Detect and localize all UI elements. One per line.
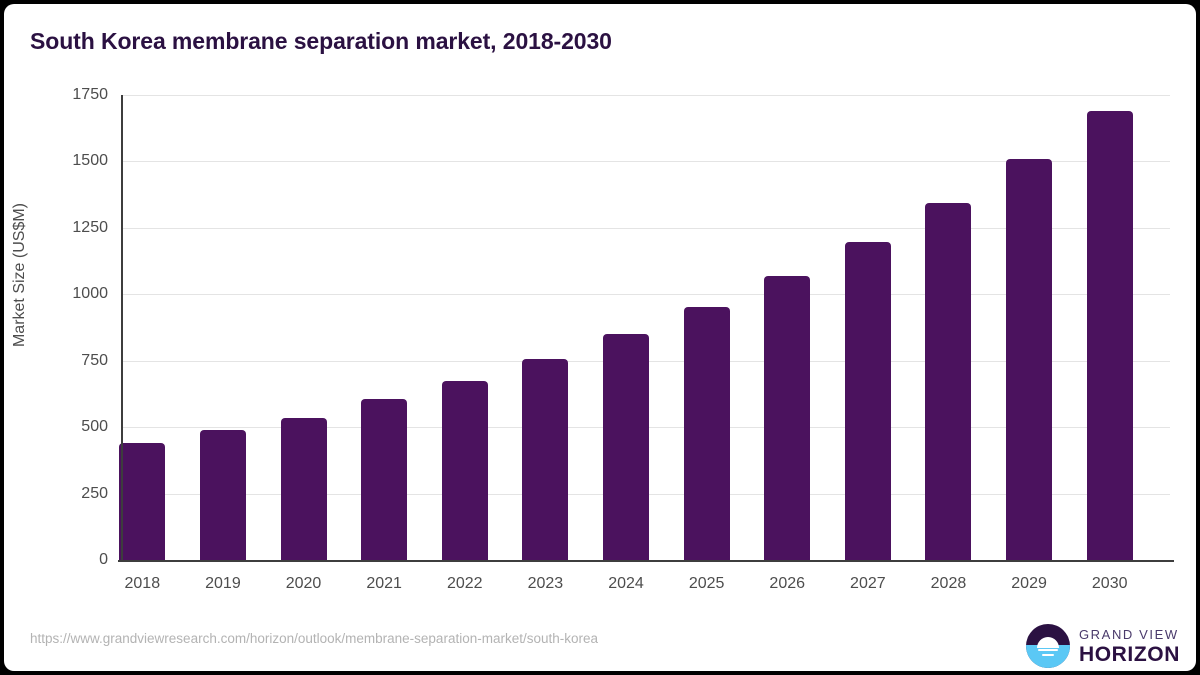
bar[interactable] bbox=[925, 203, 971, 560]
x-axis-tick-label: 2018 bbox=[125, 575, 161, 593]
x-axis-tick-label: 2020 bbox=[286, 575, 322, 593]
bar[interactable] bbox=[442, 381, 488, 560]
bar[interactable] bbox=[1006, 159, 1052, 560]
plot-area bbox=[122, 95, 1170, 560]
x-axis-tick-label: 2028 bbox=[931, 575, 967, 593]
x-axis-tick-label: 2027 bbox=[850, 575, 886, 593]
bar[interactable] bbox=[281, 418, 327, 560]
x-axis-tick-label: 2029 bbox=[1011, 575, 1047, 593]
y-axis-tick-label: 750 bbox=[81, 352, 108, 370]
y-axis-tick-label: 500 bbox=[81, 418, 108, 436]
page-title: South Korea membrane separation market, … bbox=[30, 28, 612, 55]
source-url[interactable]: https://www.grandviewresearch.com/horizo… bbox=[30, 631, 598, 646]
bar[interactable] bbox=[119, 443, 165, 560]
bar[interactable] bbox=[522, 359, 568, 560]
logo-wordmark: GRAND VIEW HORIZON bbox=[1079, 628, 1180, 665]
y-axis-tick-label: 250 bbox=[81, 485, 108, 503]
y-axis-tick-label: 0 bbox=[99, 551, 108, 569]
y-axis-line bbox=[121, 95, 123, 561]
bar[interactable] bbox=[603, 334, 649, 560]
x-axis-tick-label: 2026 bbox=[769, 575, 805, 593]
gridline bbox=[122, 95, 1170, 96]
x-axis-tick-label: 2021 bbox=[366, 575, 402, 593]
logo-grand-view-text: GRAND VIEW bbox=[1079, 628, 1180, 641]
y-axis-tick-label: 1500 bbox=[72, 152, 108, 170]
logo-line-upper bbox=[1038, 649, 1058, 652]
y-axis-tick-label: 1750 bbox=[72, 86, 108, 104]
chart-page: South Korea membrane separation market, … bbox=[4, 4, 1196, 671]
logo-line-lower bbox=[1042, 654, 1054, 657]
y-axis-tick-label: 1250 bbox=[72, 219, 108, 237]
grand-view-horizon-logo[interactable]: GRAND VIEW HORIZON bbox=[1026, 624, 1180, 668]
x-axis-line bbox=[118, 560, 1174, 562]
y-axis-tick-label: 1000 bbox=[72, 285, 108, 303]
x-axis-tick-label: 2030 bbox=[1092, 575, 1128, 593]
x-axis-tick-label: 2022 bbox=[447, 575, 483, 593]
bar[interactable] bbox=[764, 276, 810, 560]
y-axis-title: Market Size (US$M) bbox=[11, 45, 29, 505]
bar[interactable] bbox=[361, 399, 407, 560]
bar[interactable] bbox=[1087, 111, 1133, 560]
logo-dome-shape bbox=[1037, 637, 1059, 648]
bar[interactable] bbox=[200, 430, 246, 560]
horizon-sun-icon bbox=[1026, 624, 1070, 668]
x-axis-tick-label: 2019 bbox=[205, 575, 241, 593]
x-axis-tick-label: 2025 bbox=[689, 575, 725, 593]
bar[interactable] bbox=[845, 242, 891, 560]
x-axis-tick-label: 2024 bbox=[608, 575, 644, 593]
logo-horizon-text: HORIZON bbox=[1079, 644, 1180, 665]
x-axis-tick-label: 2023 bbox=[528, 575, 564, 593]
bar[interactable] bbox=[684, 307, 730, 560]
